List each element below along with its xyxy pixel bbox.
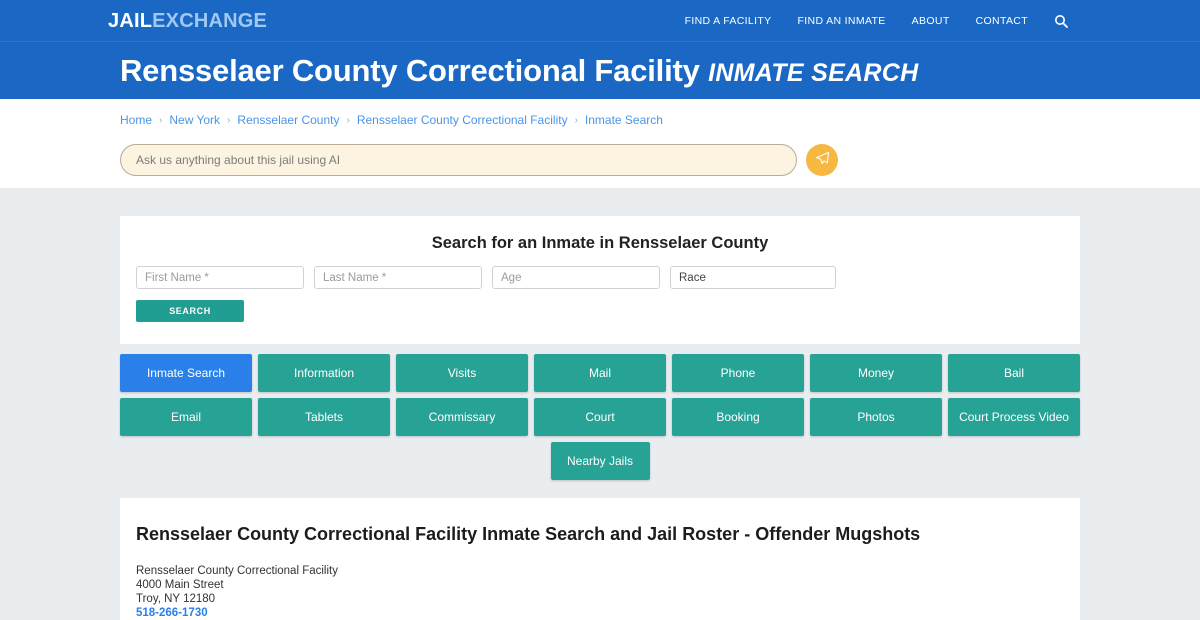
tile-commissary[interactable]: Commissary bbox=[396, 398, 528, 436]
paper-plane-icon bbox=[815, 151, 830, 169]
race-select[interactable]: Race bbox=[670, 266, 836, 289]
breadcrumb-chevron-icon: › bbox=[575, 115, 578, 126]
top-navigation-bar: JAILEXCHANGE FIND A FACILITY FIND AN INM… bbox=[0, 0, 1200, 41]
tile-row-1: Inmate Search Information Visits Mail Ph… bbox=[120, 354, 1080, 392]
facility-address: Rensselaer County Correctional Facility … bbox=[136, 564, 1064, 620]
page-title-banner: Rensselaer County Correctional Facility … bbox=[0, 41, 1200, 99]
page-root: JAILEXCHANGE FIND A FACILITY FIND AN INM… bbox=[0, 0, 1200, 620]
tile-visits[interactable]: Visits bbox=[396, 354, 528, 392]
tile-email[interactable]: Email bbox=[120, 398, 252, 436]
tile-inmate-search[interactable]: Inmate Search bbox=[120, 354, 252, 392]
breadcrumb-item-new-york[interactable]: New York bbox=[169, 113, 220, 127]
tile-information[interactable]: Information bbox=[258, 354, 390, 392]
nav-item-contact[interactable]: CONTACT bbox=[976, 15, 1028, 27]
breadcrumb-item-facility[interactable]: Rensselaer County Correctional Facility bbox=[357, 113, 568, 127]
tile-nearby-jails[interactable]: Nearby Jails bbox=[551, 442, 650, 480]
ai-search-row bbox=[120, 144, 1080, 176]
breadcrumb-item-home[interactable]: Home bbox=[120, 113, 152, 127]
facility-details-card: Rensselaer County Correctional Facility … bbox=[120, 498, 1080, 620]
tile-photos[interactable]: Photos bbox=[810, 398, 942, 436]
tile-row-2: Email Tablets Commissary Court Booking P… bbox=[120, 398, 1080, 436]
search-icon[interactable] bbox=[1054, 14, 1068, 28]
nav-item-find-an-inmate[interactable]: FIND AN INMATE bbox=[798, 15, 886, 27]
nav-item-find-a-facility[interactable]: FIND A FACILITY bbox=[685, 15, 772, 27]
ai-search-input[interactable] bbox=[120, 144, 797, 176]
age-input[interactable] bbox=[492, 266, 660, 289]
first-name-input[interactable] bbox=[136, 266, 304, 289]
facility-city-state-zip: Troy, NY 12180 bbox=[136, 592, 1064, 606]
last-name-input[interactable] bbox=[314, 266, 482, 289]
tile-mail[interactable]: Mail bbox=[534, 354, 666, 392]
facility-details-heading: Rensselaer County Correctional Facility … bbox=[136, 524, 1064, 545]
breadcrumb-item-inmate-search[interactable]: Inmate Search bbox=[585, 113, 663, 127]
page-title: Rensselaer County Correctional Facility … bbox=[120, 55, 1080, 86]
search-fields-row: Race bbox=[136, 266, 1064, 289]
site-logo[interactable]: JAILEXCHANGE bbox=[108, 11, 267, 31]
breadcrumb-chevron-icon: › bbox=[346, 115, 349, 126]
breadcrumb-chevron-icon: › bbox=[227, 115, 230, 126]
primary-nav: FIND A FACILITY FIND AN INMATE ABOUT CON… bbox=[685, 14, 1068, 28]
logo-text-exchange: EXCHANGE bbox=[152, 10, 267, 32]
facility-section-tiles: Inmate Search Information Visits Mail Ph… bbox=[120, 354, 1080, 480]
tile-tablets[interactable]: Tablets bbox=[258, 398, 390, 436]
page-title-main: Rensselaer County Correctional Facility bbox=[120, 53, 700, 88]
facility-street: 4000 Main Street bbox=[136, 578, 1064, 592]
tile-phone[interactable]: Phone bbox=[672, 354, 804, 392]
page-title-subtitle: INMATE SEARCH bbox=[708, 59, 918, 87]
tile-court[interactable]: Court bbox=[534, 398, 666, 436]
breadcrumb-chevron-icon: › bbox=[159, 115, 162, 126]
logo-text-jail: JAIL bbox=[108, 10, 152, 32]
tile-bail[interactable]: Bail bbox=[948, 354, 1080, 392]
search-card-heading: Search for an Inmate in Rensselaer Count… bbox=[136, 234, 1064, 253]
tile-row-3: Nearby Jails bbox=[120, 442, 1080, 480]
inmate-search-card: Search for an Inmate in Rensselaer Count… bbox=[120, 216, 1080, 344]
breadcrumb-and-ai-section: Home › New York › Rensselaer County › Re… bbox=[0, 99, 1200, 188]
breadcrumb: Home › New York › Rensselaer County › Re… bbox=[120, 113, 1080, 127]
search-button[interactable]: SEARCH bbox=[136, 300, 244, 322]
ai-send-button[interactable] bbox=[806, 144, 838, 176]
tile-booking[interactable]: Booking bbox=[672, 398, 804, 436]
breadcrumb-item-rensselaer-county[interactable]: Rensselaer County bbox=[237, 113, 339, 127]
main-content-area: Search for an Inmate in Rensselaer Count… bbox=[0, 188, 1200, 620]
facility-name: Rensselaer County Correctional Facility bbox=[136, 564, 1064, 578]
facility-phone-link[interactable]: 518-266-1730 bbox=[136, 606, 1064, 620]
tile-money[interactable]: Money bbox=[810, 354, 942, 392]
nav-item-about[interactable]: ABOUT bbox=[912, 15, 950, 27]
tile-court-process-video[interactable]: Court Process Video bbox=[948, 398, 1080, 436]
